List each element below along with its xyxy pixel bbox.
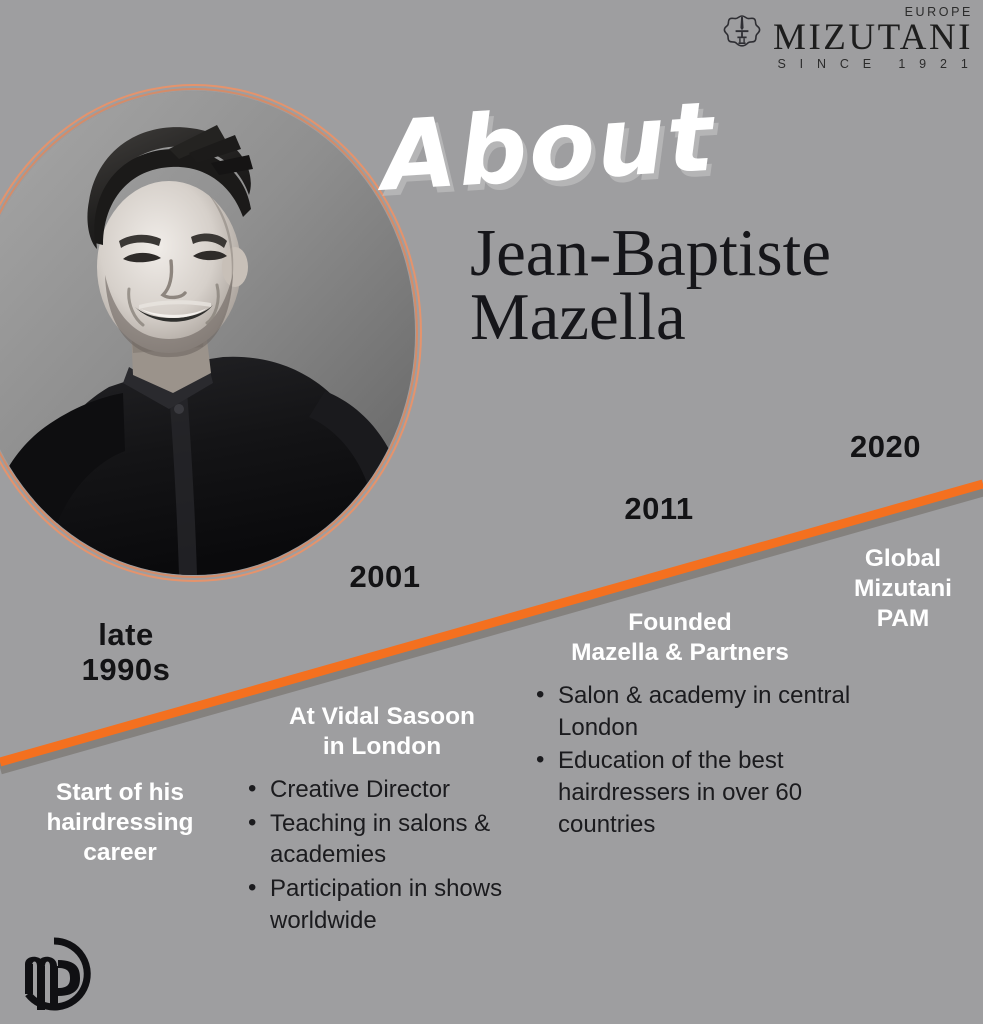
list-item: Salon & academy in central London bbox=[558, 680, 862, 743]
person-name-line2: Mazella bbox=[470, 286, 970, 350]
list-item: Creative Director bbox=[270, 774, 534, 806]
heading-line: Global bbox=[865, 545, 941, 572]
heading-line: At Vidal Sasoon bbox=[289, 703, 475, 730]
timeline-bullets-2011: Salon & academy in central London Educat… bbox=[532, 680, 862, 842]
timeline-heading-2011: Founded Mazella & Partners bbox=[524, 608, 836, 668]
mizutani-brand-lockup: EUROPE MIZUTANI S I N C E 1 9 2 1 bbox=[719, 6, 973, 70]
timeline-bullets-2001: Creative Director Teaching in salons & a… bbox=[244, 774, 534, 938]
heading-line: Start of his bbox=[56, 779, 184, 806]
about-slide: About Jean-Baptiste Mazella EUROPE MIZUT… bbox=[0, 0, 983, 1024]
list-item: Education of the best hairdressers in ov… bbox=[558, 745, 862, 840]
heading-line: in London bbox=[323, 733, 441, 760]
heading-line: hairdressing bbox=[46, 809, 193, 836]
timeline-heading-late-1990s: Start of his hairdressing career bbox=[20, 778, 220, 868]
timeline-year-late-1990s: late 1990s bbox=[46, 618, 206, 687]
timeline-year-2011: 2011 bbox=[594, 492, 724, 527]
list-item: Teaching in salons & academies bbox=[270, 808, 534, 871]
heading-line: Mazella & Partners bbox=[571, 639, 789, 666]
timeline-heading-2001: At Vidal Sasoon in London bbox=[232, 702, 532, 762]
brand-since-line: S I N C E 1 9 2 1 bbox=[769, 58, 973, 71]
page-title: Jean-Baptiste Mazella bbox=[470, 222, 970, 349]
portrait-photo bbox=[0, 84, 422, 582]
brand-name: MIZUTANI bbox=[773, 20, 973, 55]
timeline-year-line2: 1990s bbox=[82, 652, 171, 687]
heading-line: PAM bbox=[877, 605, 930, 632]
timeline-year-2001: 2001 bbox=[320, 560, 450, 595]
timeline-year-line1: late bbox=[98, 617, 153, 652]
heading-line: Mizutani bbox=[854, 575, 952, 602]
brand-since-year: 1 9 2 1 bbox=[898, 58, 973, 71]
mizutani-crest-icon bbox=[719, 11, 765, 65]
heading-line: Founded bbox=[628, 609, 731, 636]
person-name-line1: Jean-Baptiste bbox=[470, 216, 831, 290]
timeline-year-2020: 2020 bbox=[818, 430, 953, 465]
brand-since-word: S I N C E bbox=[777, 58, 876, 71]
heading-line: career bbox=[83, 839, 157, 866]
list-item: Participation in shows worldwide bbox=[270, 873, 534, 936]
timeline-heading-2020: Global Mizutani PAM bbox=[828, 544, 978, 634]
about-script-title: About bbox=[379, 83, 676, 220]
mazella-partners-monogram-icon bbox=[8, 932, 92, 1016]
